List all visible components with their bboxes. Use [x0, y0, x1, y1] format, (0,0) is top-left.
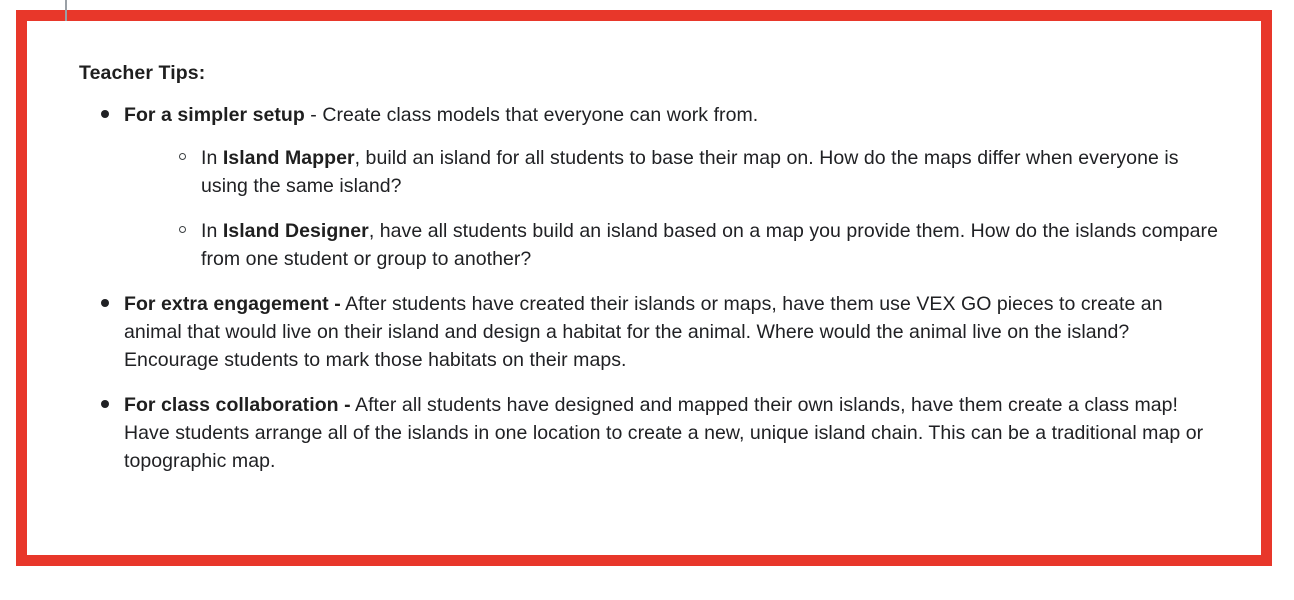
- bullet-disc-icon: [101, 299, 109, 307]
- list-item: For class collaboration - After all stud…: [79, 391, 1221, 475]
- text-caret-tick: [65, 0, 67, 21]
- subtip-pre: In: [201, 147, 223, 169]
- subtip-lead: Island Mapper: [223, 147, 355, 169]
- subtip-lead: Island Designer: [223, 220, 369, 242]
- subtip-text: In Island Mapper, build an island for al…: [201, 144, 1221, 200]
- tip-body: - Create class models that everyone can …: [305, 104, 758, 126]
- tip-lead: For extra engagement -: [124, 293, 341, 315]
- bullet-circle-icon: [179, 153, 186, 160]
- tips-list: For a simpler setup - Create class model…: [79, 101, 1221, 475]
- tip-lead: For a simpler setup: [124, 104, 305, 126]
- callout-inner: Teacher Tips: For a simpler setup - Crea…: [27, 21, 1261, 475]
- subtip-text: In Island Designer, have all students bu…: [201, 217, 1221, 273]
- page-title: Teacher Tips:: [79, 59, 1221, 87]
- list-item: In Island Mapper, build an island for al…: [157, 144, 1221, 200]
- bullet-circle-icon: [179, 226, 186, 233]
- list-item: For a simpler setup - Create class model…: [79, 101, 1221, 273]
- teacher-tips-callout: Teacher Tips: For a simpler setup - Crea…: [16, 10, 1272, 566]
- subtips-list: In Island Mapper, build an island for al…: [124, 144, 1221, 273]
- tip-lead: For class collaboration -: [124, 394, 351, 416]
- subtip-pre: In: [201, 220, 223, 242]
- tip-text: For class collaboration - After all stud…: [124, 391, 1221, 475]
- tip-text: For a simpler setup - Create class model…: [124, 101, 1221, 129]
- list-item: For extra engagement - After students ha…: [79, 290, 1221, 374]
- list-item: In Island Designer, have all students bu…: [157, 217, 1221, 273]
- tip-text: For extra engagement - After students ha…: [124, 290, 1221, 374]
- bullet-disc-icon: [101, 110, 109, 118]
- bullet-disc-icon: [101, 400, 109, 408]
- page-root: Teacher Tips: For a simpler setup - Crea…: [0, 0, 1294, 600]
